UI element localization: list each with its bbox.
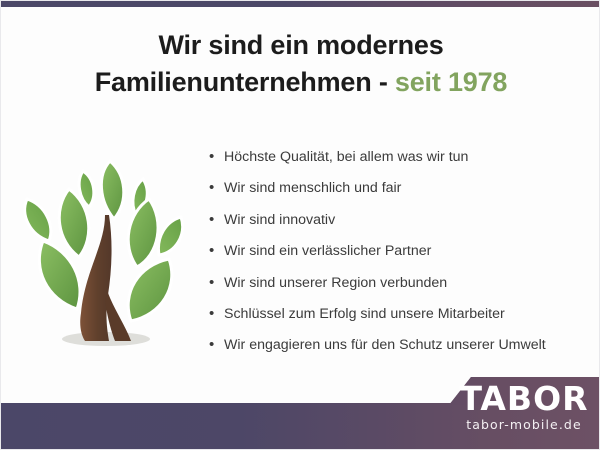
- brand-wordmark: TABOR: [453, 381, 595, 417]
- page-title: Wir sind ein modernes Familienunternehme…: [1, 27, 600, 101]
- list-item: • Schlüssel zum Erfolg sind unsere Mitar…: [209, 298, 594, 329]
- list-item-label: Wir sind unserer Region verbunden: [224, 268, 447, 299]
- tree-icon: [9, 153, 199, 349]
- bullet-icon: •: [209, 235, 224, 266]
- headline-line-1: Wir sind ein modernes: [158, 30, 443, 60]
- bullet-icon: •: [209, 172, 224, 203]
- top-accent-bar: [1, 1, 600, 7]
- headline-accent-year: seit 1978: [395, 67, 507, 97]
- slide-canvas: Wir sind ein modernes Familienunternehme…: [0, 0, 600, 450]
- brand-logo[interactable]: TABOR tabor-mobile.de: [453, 381, 595, 447]
- list-item-label: Wir engagieren uns für den Schutz unsere…: [224, 330, 546, 361]
- brand-tagline: tabor-mobile.de: [453, 417, 595, 433]
- headline-line-2-main: Familienunternehmen -: [95, 67, 395, 97]
- list-item-label: Wir sind ein verlässlicher Partner: [224, 236, 431, 267]
- bullet-icon: •: [209, 204, 224, 235]
- list-item-label: Schlüssel zum Erfolg sind unsere Mitarbe…: [224, 299, 505, 330]
- list-item: • Wir sind innovativ: [209, 204, 594, 235]
- list-item: • Wir sind menschlich und fair: [209, 172, 594, 203]
- bullet-icon: •: [209, 267, 224, 298]
- list-item: • Wir sind ein verlässlicher Partner: [209, 235, 594, 266]
- bullet-icon: •: [209, 141, 224, 172]
- list-item-label: Wir sind innovativ: [224, 205, 335, 236]
- list-item-label: Wir sind menschlich und fair: [224, 173, 401, 204]
- headline-line-2: Familienunternehmen - seit 1978: [1, 64, 600, 101]
- list-item: • Wir sind unserer Region verbunden: [209, 267, 594, 298]
- tree-illustration: [9, 153, 199, 349]
- list-item-label: Höchste Qualität, bei allem was wir tun: [224, 142, 468, 173]
- list-item: • Wir engagieren uns für den Schutz unse…: [209, 329, 594, 360]
- list-item: • Höchste Qualität, bei allem was wir tu…: [209, 141, 594, 172]
- bullet-icon: •: [209, 329, 224, 360]
- benefits-list: • Höchste Qualität, bei allem was wir tu…: [209, 141, 594, 361]
- bullet-icon: •: [209, 298, 224, 329]
